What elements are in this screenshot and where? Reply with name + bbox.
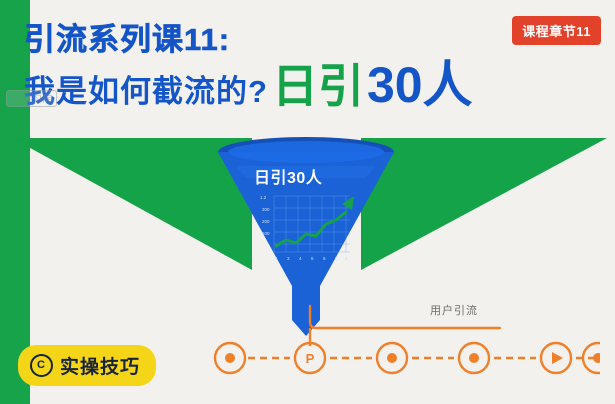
chart-xtick-2: 4: [299, 256, 302, 261]
funnel-inner-label: 日引30人: [254, 164, 322, 188]
flow-diagram: P: [200, 300, 600, 380]
chart-ytick-1: 300: [262, 207, 270, 212]
funnel-mini-chart: 1.2 300 200 100 2 3 4 5 6 7 8: [258, 190, 354, 268]
chart-xtick-6: 8: [345, 256, 348, 261]
funnel-wing-right: [361, 138, 607, 270]
chapter-badge: 课程章节11: [512, 16, 601, 45]
flow-node-0: [215, 343, 245, 373]
watermark: AI 学习库: [6, 90, 57, 107]
headline-highlight-blue: 30人: [367, 62, 473, 110]
headline-line-1: 引流系列课11:: [24, 22, 473, 58]
flow-node-1: P: [295, 343, 325, 373]
copyright-icon: C: [30, 354, 53, 377]
tips-pill: C 实操技巧: [18, 345, 156, 386]
chart-xtick-3: 5: [311, 256, 314, 261]
flow-node-3: [459, 343, 489, 373]
chart-ytick-2: 200: [262, 219, 270, 224]
chart-xtick-1: 3: [287, 256, 290, 261]
flow-node-2: [377, 343, 407, 373]
chart-ytick-0: 1.2: [260, 195, 267, 200]
tips-pill-label: 实操技巧: [60, 352, 140, 379]
flow-label: 用户引流: [430, 302, 478, 318]
headline: 引流系列课11: 我是如何截流的? 日引 30人: [24, 22, 473, 109]
headline-question: 我是如何截流的?: [24, 75, 268, 109]
chart-trend-line: [276, 212, 346, 246]
chart-xtick-0: 2: [275, 256, 278, 261]
chart-xtick-5: 7: [335, 256, 338, 261]
headline-line-2: 我是如何截流的? 日引 30人: [24, 62, 473, 110]
flow-node-4: [541, 343, 571, 373]
chart-xtick-4: 6: [323, 256, 326, 261]
chart-ytick-3: 100: [262, 231, 270, 236]
svg-text:P: P: [306, 351, 315, 366]
poster-canvas: AI 学习库 课程章节11 引流系列课11: 我是如何截流的? 日引 30人 日…: [0, 0, 615, 404]
headline-highlight-green: 日引: [272, 65, 364, 109]
watermark-label: AI 学习库: [6, 90, 57, 107]
